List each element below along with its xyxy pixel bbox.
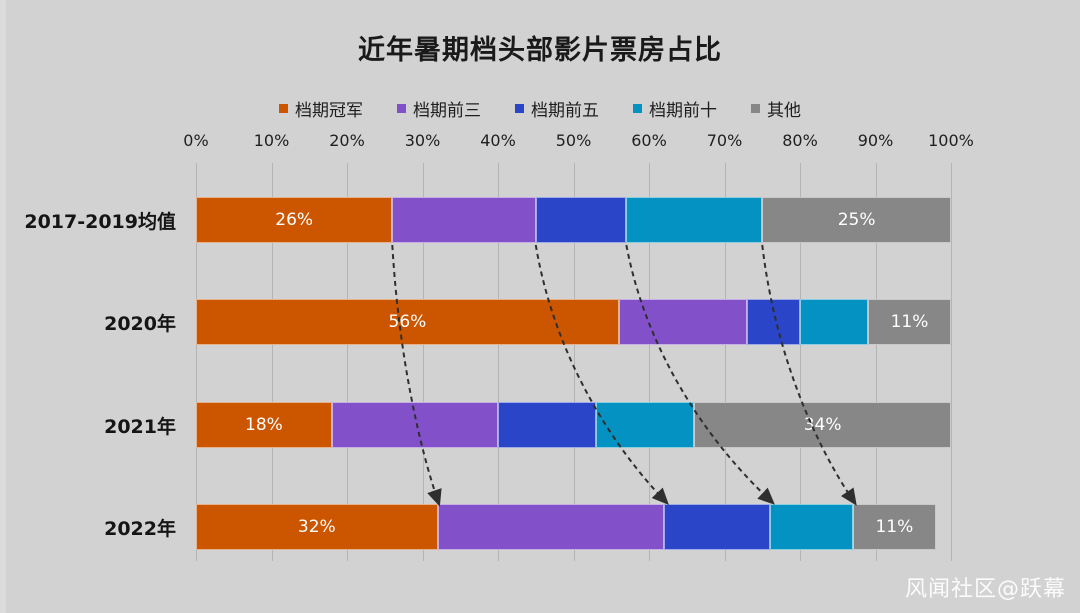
bar-segment-value-label: 11% (875, 517, 913, 537)
legend-swatch-icon (279, 104, 288, 113)
bar-segment-1[interactable]: 56% (196, 299, 619, 345)
x-axis-tick-label: 0% (183, 131, 208, 150)
bar-segment-2[interactable] (619, 299, 747, 345)
x-axis-tick-label: 80% (782, 131, 818, 150)
x-axis-tick-label: 10% (254, 131, 290, 150)
y-axis-category-label: 2022年 (0, 504, 176, 550)
y-axis-category-label: 2017-2019均值 (0, 197, 176, 243)
legend-swatch-icon (751, 104, 760, 113)
trend-arrow-top10-boundary (762, 245, 853, 500)
legend-item[interactable]: 其他 (751, 96, 801, 121)
bar-segment-value-label: 32% (298, 517, 336, 537)
legend-item-label: 档期前五 (531, 96, 599, 121)
bar-segment-3[interactable] (536, 197, 627, 243)
bar-segment-value-label: 26% (275, 210, 313, 230)
legend-item-label: 档期前三 (413, 96, 481, 121)
x-axis-tick-label: 60% (631, 131, 667, 150)
bar-segment-4[interactable] (770, 504, 853, 550)
x-axis-tick-label: 90% (858, 131, 894, 150)
bar-segment-5[interactable]: 11% (868, 299, 951, 345)
legend-swatch-icon (397, 104, 406, 113)
x-axis-tick-label: 100% (928, 131, 974, 150)
bar-segment-4[interactable] (596, 402, 694, 448)
page-title: 近年暑期档头部影片票房占比 (0, 28, 1080, 67)
bar-row: 2021年18%34% (196, 402, 951, 448)
x-axis-tick-label: 30% (405, 131, 441, 150)
trend-arrow-top3-boundary (536, 245, 664, 500)
plot-area: 2017-2019均值26%25%2020年56%11%2021年18%34%2… (196, 163, 951, 561)
x-axis-tick-label: 50% (556, 131, 592, 150)
bar-segment-1[interactable]: 18% (196, 402, 332, 448)
bar-segment-4[interactable] (626, 197, 762, 243)
legend-item-label: 其他 (767, 96, 801, 121)
gridline (951, 163, 952, 561)
x-axis-tick-label: 70% (707, 131, 743, 150)
bar-segment-value-label: 25% (838, 210, 876, 230)
bar-row: 2017-2019均值26%25% (196, 197, 951, 243)
watermark: 风闻社区@跃幕 (905, 571, 1066, 603)
bar-segment-value-label: 11% (891, 312, 929, 332)
legend-item[interactable]: 档期前五 (515, 96, 599, 121)
x-axis-tick-label: 40% (480, 131, 516, 150)
legend-item[interactable]: 档期前十 (633, 96, 717, 121)
legend-swatch-icon (633, 104, 642, 113)
bar-segment-2[interactable] (392, 197, 535, 243)
chart-root: 近年暑期档头部影片票房占比 档期冠军档期前三档期前五档期前十其他 0%10%20… (0, 0, 1080, 613)
trend-arrow-champion-boundary (392, 245, 437, 500)
x-axis-tick-labels: 0%10%20%30%40%50%60%70%80%90%100% (0, 131, 1080, 155)
bar-segment-5[interactable]: 11% (853, 504, 936, 550)
bar-segment-5[interactable]: 34% (694, 402, 951, 448)
trend-arrow-top5-boundary (626, 245, 769, 500)
bar-segment-1[interactable]: 26% (196, 197, 392, 243)
bar-segment-value-label: 18% (245, 415, 283, 435)
bar-segment-1[interactable]: 32% (196, 504, 438, 550)
bar-row: 2022年32%11% (196, 504, 951, 550)
legend-item-label: 档期前十 (649, 96, 717, 121)
bar-segment-3[interactable] (747, 299, 800, 345)
legend-item-label: 档期冠军 (295, 96, 363, 121)
bar-segment-3[interactable] (498, 402, 596, 448)
bar-segment-4[interactable] (800, 299, 868, 345)
x-axis-tick-label: 20% (329, 131, 365, 150)
legend-item[interactable]: 档期冠军 (279, 96, 363, 121)
bar-segment-2[interactable] (332, 402, 498, 448)
y-axis-category-label: 2020年 (0, 299, 176, 345)
bar-segment-2[interactable] (438, 504, 665, 550)
legend-item[interactable]: 档期前三 (397, 96, 481, 121)
bar-row: 2020年56%11% (196, 299, 951, 345)
bar-segment-value-label: 34% (804, 415, 842, 435)
chart-legend: 档期冠军档期前三档期前五档期前十其他 (0, 96, 1080, 121)
legend-swatch-icon (515, 104, 524, 113)
y-axis-category-label: 2021年 (0, 402, 176, 448)
bar-segment-5[interactable]: 25% (762, 197, 951, 243)
bar-segment-3[interactable] (664, 504, 770, 550)
bar-segment-value-label: 56% (389, 312, 427, 332)
